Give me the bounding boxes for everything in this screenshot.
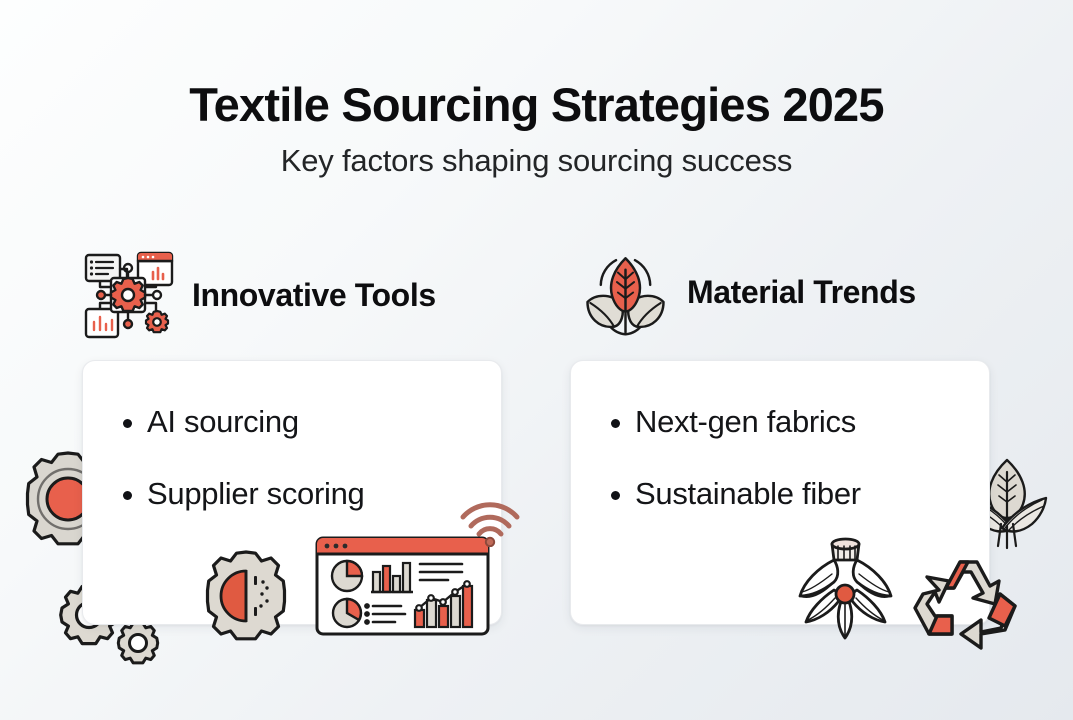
bullet-dot-icon [123,491,132,500]
list-item-label: AI sourcing [147,403,299,442]
recycling-symbol-icon [905,548,1032,658]
header: Textile Sourcing Strategies 2025 Key fac… [0,80,1073,179]
list-item-label: Next-gen fabrics [635,403,856,442]
column-title-material-trends: Material Trends [687,274,916,311]
list-item-label: Sustainable fiber [635,475,861,514]
column-heading-material-trends: Material Trends [578,245,916,340]
analytics-dashboard-icon [315,536,490,636]
list-item: Next-gen fabrics [611,403,989,442]
half-filled-gear-icon [196,546,296,646]
list-item: Sustainable fiber [611,475,989,514]
woven-fiber-structure-icon [788,534,903,644]
wifi-signal-icon [457,497,523,547]
leaf-sprout-icon [578,245,673,340]
column-heading-innovative-tools: Innovative Tools [78,245,436,345]
bullet-list-innovative-tools: AI sourcing Supplier scoring [83,361,501,514]
infographic-canvas: Textile Sourcing Strategies 2025 Key fac… [0,0,1073,720]
page-title: Textile Sourcing Strategies 2025 [0,80,1073,130]
bullet-dot-icon [123,419,132,428]
column-title-innovative-tools: Innovative Tools [192,277,436,314]
bullet-list-material-trends: Next-gen fabrics Sustainable fiber [571,361,989,514]
bullet-dot-icon [611,491,620,500]
tech-automation-network-icon [78,245,178,345]
list-item: AI sourcing [123,403,501,442]
page-subtitle: Key factors shaping sourcing success [0,143,1073,179]
list-item-label: Supplier scoring [147,475,364,514]
bullet-dot-icon [611,419,620,428]
list-item: Supplier scoring [123,475,501,514]
